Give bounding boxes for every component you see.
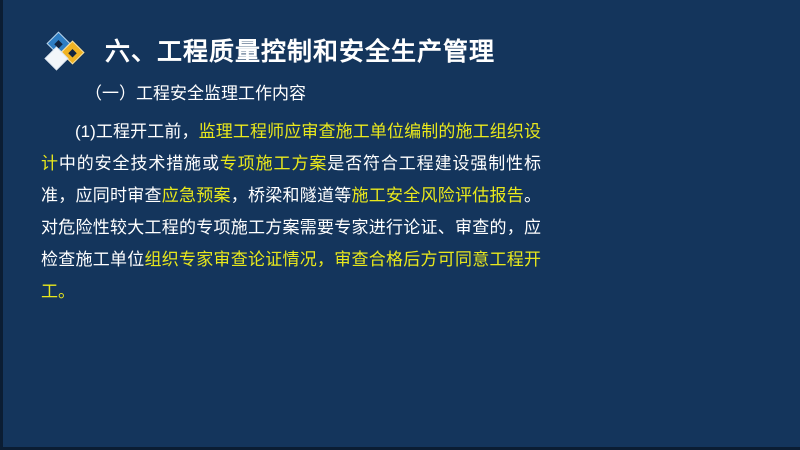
- body-text-run: ，桥梁和隧道等: [231, 186, 352, 205]
- slide-title-row: 六、工程质量控制和安全生产管理: [45, 30, 495, 74]
- highlighted-text-run: 施工安全风险评估报告: [352, 186, 525, 205]
- body-text-run: (1)工程开工前，: [75, 122, 199, 141]
- body-text-run: 中的安全技术措施或: [59, 154, 220, 173]
- slide-canvas: 六、工程质量控制和安全生产管理 （一）工程安全监理工作内容 (1)工程开工前，监…: [0, 0, 800, 450]
- body-content: (1)工程开工前，监理工程师应审查施工单位编制的施工组织设计中的安全技术措施或专…: [41, 116, 541, 308]
- section-subheading: （一）工程安全监理工作内容: [85, 82, 306, 106]
- three-diamonds-icon: [45, 31, 89, 73]
- highlighted-text-run: 应急预案: [162, 186, 231, 205]
- highlighted-text-run: 专项施工方案: [220, 154, 327, 173]
- page-title: 六、工程质量控制和安全生产管理: [105, 40, 495, 65]
- body-paragraph: (1)工程开工前，监理工程师应审查施工单位编制的施工组织设计中的安全技术措施或专…: [41, 116, 541, 308]
